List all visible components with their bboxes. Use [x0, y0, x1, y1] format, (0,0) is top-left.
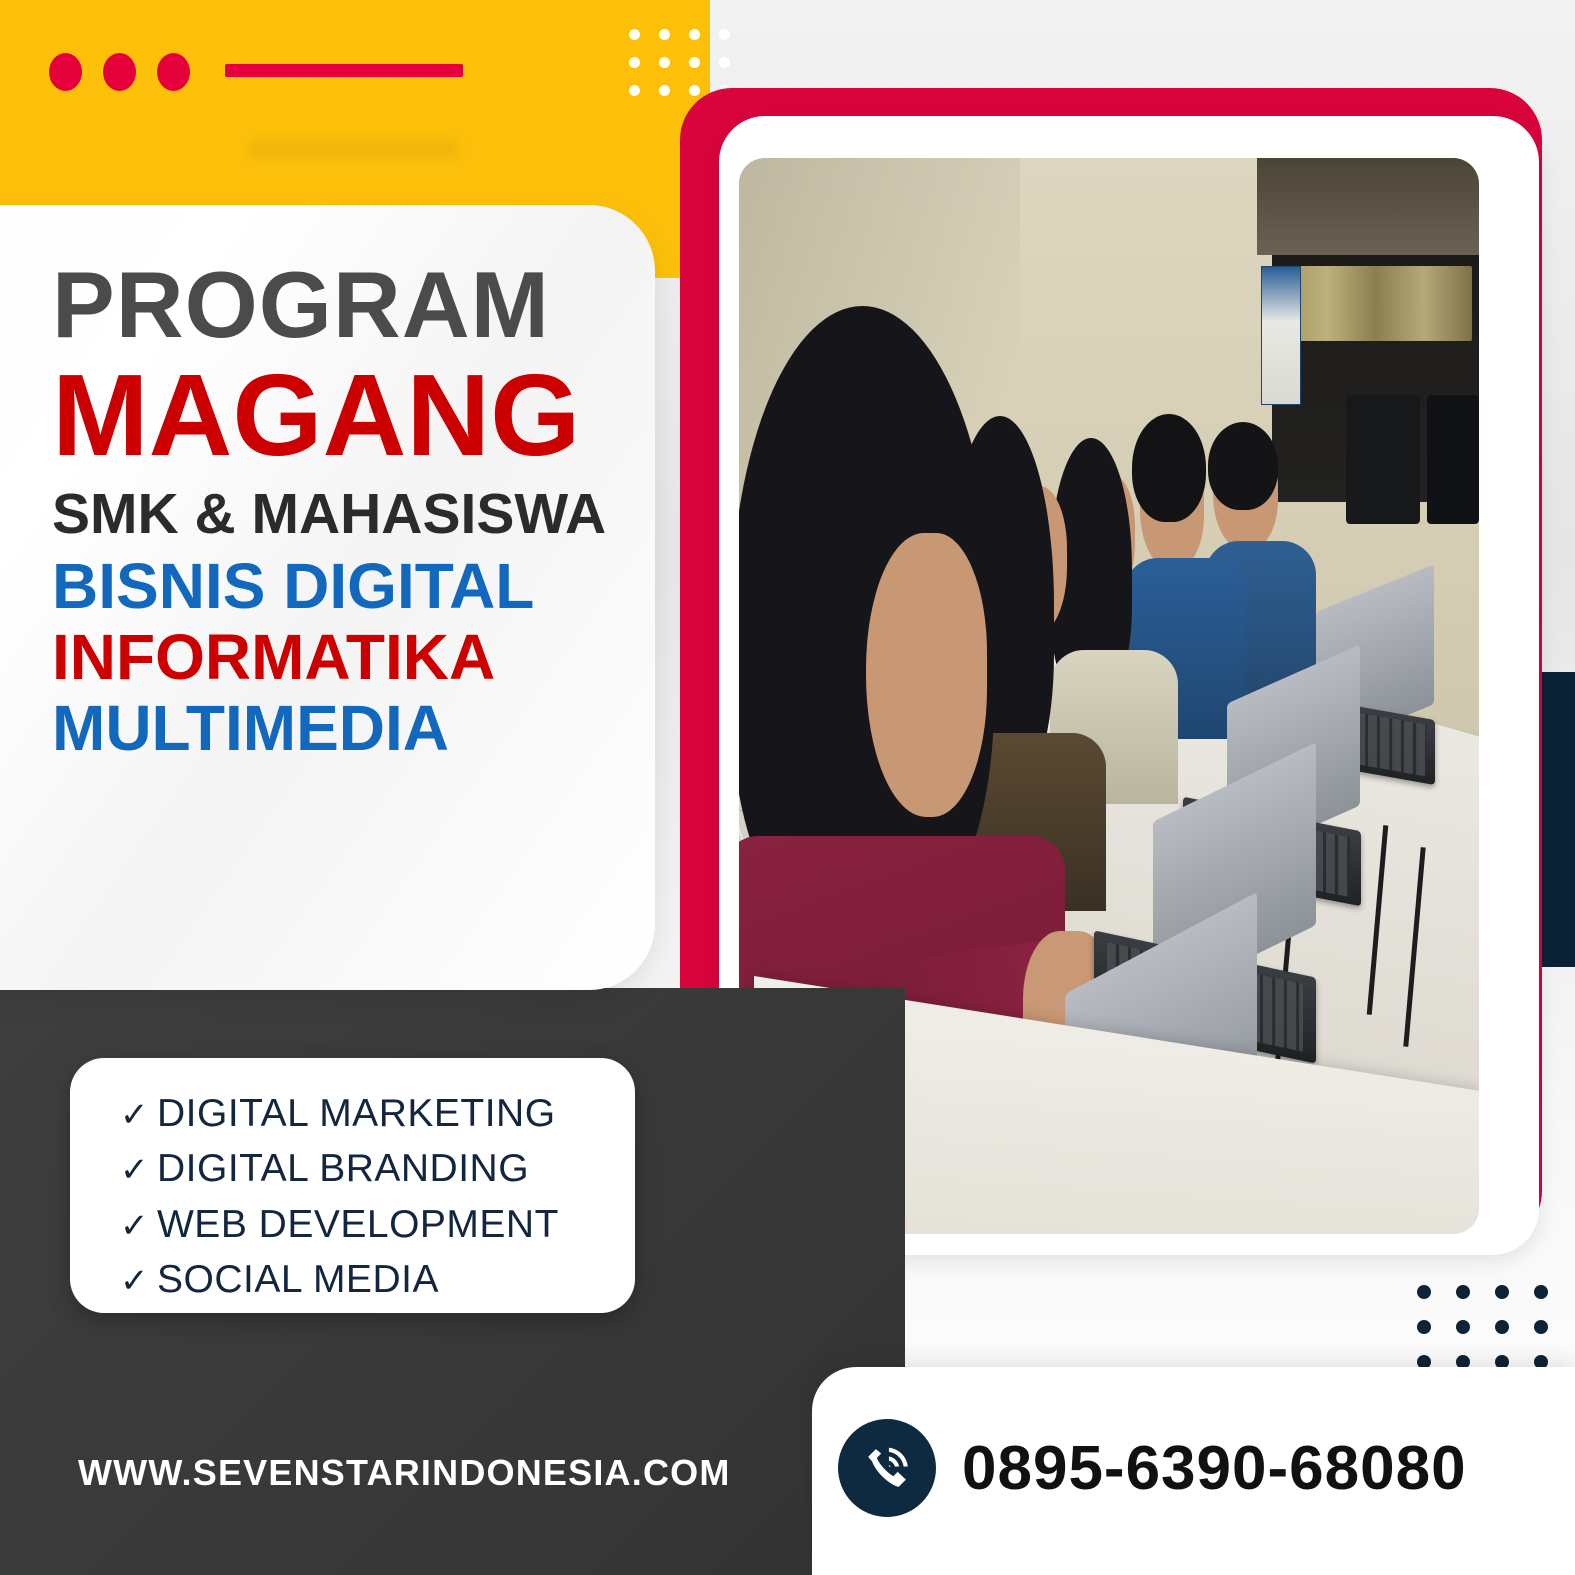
ceiling-strip: [1257, 158, 1479, 255]
service-item: ✓ SOCIAL MEDIA: [120, 1252, 635, 1307]
ghost-shadow-bar: [248, 140, 460, 158]
headline-multimedia: MULTIMEDIA: [52, 695, 652, 762]
red-dot-icon: [157, 53, 190, 91]
phone-card: 0895-6390-68080: [812, 1367, 1575, 1575]
white-dot-grid-icon: [629, 29, 730, 96]
headline-program: PROGRAM: [52, 257, 652, 353]
bag: [1346, 395, 1420, 524]
wall-poster: [1261, 266, 1302, 406]
check-icon: ✓: [120, 1091, 149, 1139]
phone-row[interactable]: 0895-6390-68080: [838, 1419, 1467, 1517]
red-accent-bar: [225, 64, 463, 77]
services-card: ✓ DIGITAL MARKETING ✓ DIGITAL BRANDING ✓…: [70, 1058, 635, 1313]
headline-magang: MAGANG: [52, 357, 652, 473]
check-icon: ✓: [120, 1146, 149, 1194]
service-label: DIGITAL BRANDING: [157, 1141, 529, 1196]
service-item: ✓ DIGITAL MARKETING: [120, 1086, 635, 1141]
service-item: ✓ WEB DEVELOPMENT: [120, 1197, 635, 1252]
headline-bisnis-digital: BISNIS DIGITAL: [52, 553, 652, 620]
service-item: ✓ DIGITAL BRANDING: [120, 1141, 635, 1196]
bag: [1427, 395, 1479, 524]
check-icon: ✓: [120, 1202, 149, 1250]
service-label: WEB DEVELOPMENT: [157, 1197, 559, 1252]
check-icon: ✓: [120, 1257, 149, 1305]
red-dots-decoration: [49, 53, 190, 91]
red-dot-icon: [49, 53, 82, 91]
trophy-shelf: [1279, 266, 1471, 341]
phone-ringing-icon: [838, 1419, 936, 1517]
headline-informatika: INFORMATIKA: [52, 624, 652, 691]
service-label: SOCIAL MEDIA: [157, 1252, 439, 1307]
red-dot-icon: [103, 53, 136, 91]
navy-dot-grid-icon: [1417, 1285, 1548, 1369]
website-url[interactable]: WWW.SEVENSTARINDONESIA.COM: [78, 1452, 731, 1494]
headline-card: PROGRAM MAGANG SMK & MAHASISWA BISNIS DI…: [0, 205, 655, 990]
phone-number[interactable]: 0895-6390-68080: [962, 1433, 1467, 1504]
headline-text-block: PROGRAM MAGANG SMK & MAHASISWA BISNIS DI…: [52, 257, 652, 762]
poster-canvas: PROGRAM MAGANG SMK & MAHASISWA BISNIS DI…: [0, 0, 1575, 1575]
face: [866, 533, 987, 817]
service-label: DIGITAL MARKETING: [157, 1086, 556, 1141]
headline-audience: SMK & MAHASISWA: [52, 485, 652, 545]
